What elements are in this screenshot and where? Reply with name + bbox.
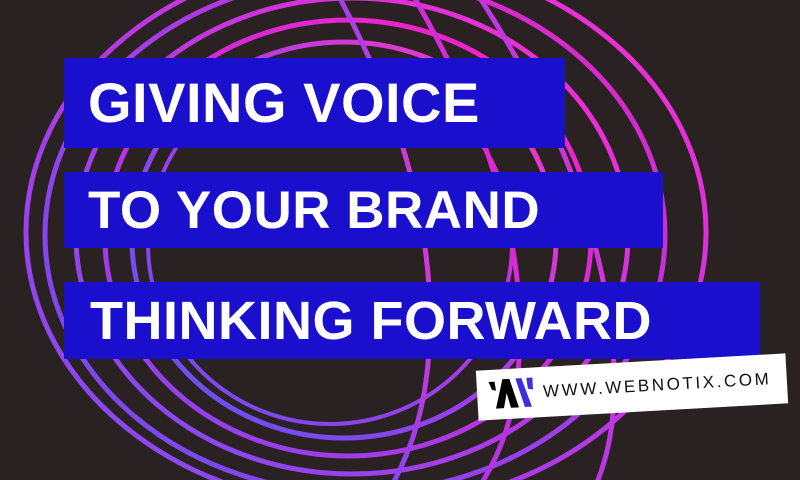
headline-line-2: TO YOUR BRAND [88, 184, 540, 237]
headline-line-3: THINKING FORWARD [90, 294, 652, 348]
promotional-banner: GIVING VOICE TO YOUR BRAND THINKING FORW… [0, 0, 800, 480]
headline-bar-3: THINKING FORWARD [64, 282, 760, 359]
headline-bar-2: TO YOUR BRAND [64, 172, 663, 248]
headline-bar-1: GIVING VOICE [64, 58, 565, 148]
website-url-text: WWW.WEBNOTIX.COM [543, 369, 772, 402]
webnotix-logo-icon [486, 375, 536, 412]
headline-line-1: GIVING VOICE [88, 75, 480, 131]
